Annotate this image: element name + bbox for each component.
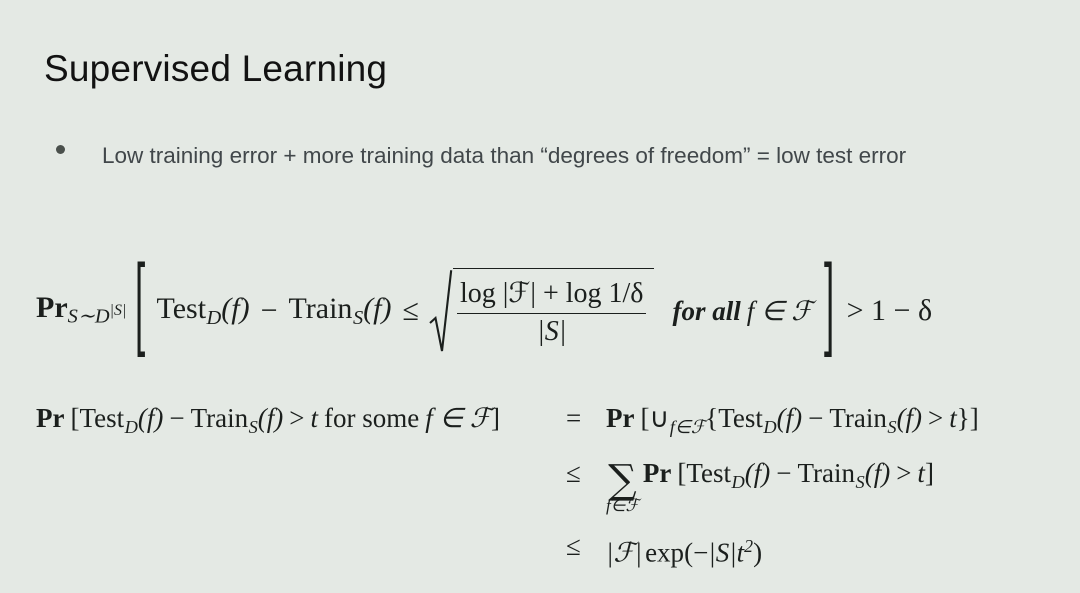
derivation-block: Pr[TestD(f)−TrainS(f)>tfor somef ∈ ℱ] = … bbox=[36, 398, 979, 572]
equation-main: PrS∼D|S| [ TestD(f) − TrainS(f) ≤ bbox=[36, 268, 932, 354]
train-term: TrainS(f) bbox=[289, 292, 392, 331]
derivation-line2-rhs: ∑ f∈ℱ Pr[TestD(f)−TrainS(f)>t] bbox=[606, 453, 979, 514]
probability-operator: PrS∼D|S| bbox=[36, 293, 126, 330]
pr-subscript: S∼D|S| bbox=[68, 303, 127, 327]
for-all-clause: for allf ∈ ℱ bbox=[672, 296, 812, 327]
derivation-line1-relation: = bbox=[548, 398, 606, 438]
leq-operator: ≤ bbox=[402, 294, 418, 328]
bullet-text: Low training error + more training data … bbox=[102, 136, 1007, 175]
fraction-numerator: log |ℱ| + log 1/δ bbox=[457, 277, 647, 311]
bracket-close: ] bbox=[821, 278, 834, 344]
derivation-line1-lhs: Pr[TestD(f)−TrainS(f)>tfor somef ∈ ℱ] bbox=[36, 398, 548, 447]
bullet-list: Low training error + more training data … bbox=[56, 136, 1016, 175]
equation-main-tail: > 1 − δ bbox=[847, 294, 932, 328]
derivation-line3-rhs: |ℱ|exp(−|S|t2) bbox=[606, 526, 979, 572]
page-title: Supervised Learning bbox=[44, 48, 387, 90]
minus-operator: − bbox=[261, 294, 278, 328]
derivation-line1-rhs: Pr[∪f∈ℱ{TestD(f)−TrainS(f)>t}] bbox=[606, 398, 979, 447]
bracket-open: [ bbox=[135, 278, 148, 344]
fraction-bar bbox=[457, 313, 647, 315]
derivation-line3-relation: ≤ bbox=[548, 526, 606, 566]
test-term: TestD(f) bbox=[156, 292, 249, 331]
equation-main-body: TestD(f) − TrainS(f) ≤ log |ℱ| + log 1/δ bbox=[156, 268, 812, 354]
list-item: Low training error + more training data … bbox=[56, 136, 1016, 175]
derivation-line2-relation: ≤ bbox=[548, 453, 606, 493]
fraction: log |ℱ| + log 1/δ |S| bbox=[453, 268, 655, 354]
radical-sign-icon bbox=[429, 268, 453, 354]
square-root-expression: log |ℱ| + log 1/δ |S| bbox=[429, 268, 655, 354]
bullet-dot-icon bbox=[56, 136, 102, 154]
summation-limit: f∈ℱ bbox=[606, 497, 639, 514]
fraction-denominator: |S| bbox=[537, 315, 566, 349]
slide-canvas: Supervised Learning Low training error +… bbox=[0, 0, 1080, 593]
summation-symbol: ∑ f∈ℱ bbox=[606, 463, 639, 513]
